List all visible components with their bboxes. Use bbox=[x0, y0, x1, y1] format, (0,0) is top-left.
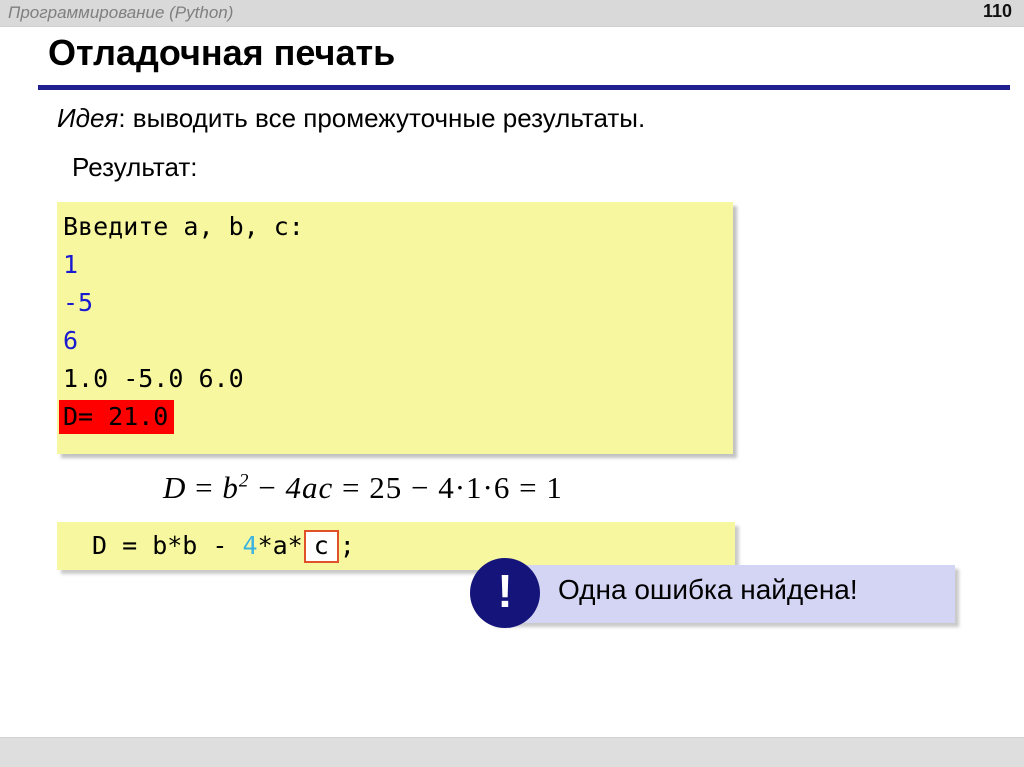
exclamation-icon: ! bbox=[470, 558, 540, 628]
formula-eq2: = bbox=[342, 470, 360, 505]
page-number: 110 bbox=[983, 1, 1012, 22]
code-prefix: D = b*b - bbox=[92, 531, 243, 560]
console-input-a: 1 bbox=[63, 250, 78, 279]
formula-minus1: − bbox=[258, 470, 276, 505]
page-title: Отладочная печать bbox=[48, 32, 395, 74]
exclamation-glyph: ! bbox=[470, 558, 540, 628]
formula-value-25: 25 bbox=[369, 470, 402, 505]
idea-label: Идея bbox=[57, 103, 118, 133]
console-input-b: -5 bbox=[63, 288, 93, 317]
console-output-box: Введите a, b, c: 1 -5 6 1.0 -5.0 6.0 D= … bbox=[57, 202, 733, 454]
idea-rest: : выводить все промежуточные результаты. bbox=[118, 103, 645, 133]
formula-result: 1 bbox=[546, 470, 563, 505]
title-underline-rule bbox=[38, 85, 1010, 90]
idea-statement: Идея: выводить все промежуточные результ… bbox=[57, 103, 645, 134]
console-highlighted-d-line: D= 21.0 bbox=[59, 400, 174, 434]
formula-eq1: = bbox=[195, 470, 213, 505]
console-output-text: Введите a, b, c: 1 -5 6 1.0 -5.0 6.0 D= … bbox=[63, 208, 304, 436]
code-suffix: ; bbox=[340, 531, 355, 560]
callout-message: Одна ошибка найдена! bbox=[558, 574, 858, 606]
code-snippet-strip: D = b*b - 4*a*c; bbox=[57, 522, 735, 570]
code-number-literal: 4 bbox=[243, 531, 258, 560]
result-label: Результат: bbox=[72, 152, 197, 183]
footer-band bbox=[0, 737, 1024, 767]
code-mid: *a* bbox=[258, 531, 303, 560]
formula-exponent: 2 bbox=[239, 471, 250, 492]
code-highlighted-token-c[interactable]: c bbox=[304, 530, 339, 563]
formula-expansion: 4·1·6 bbox=[438, 470, 510, 505]
console-input-c: 6 bbox=[63, 326, 78, 355]
console-echo-line: 1.0 -5.0 6.0 bbox=[63, 364, 244, 393]
formula-term-4ac: 4ac bbox=[285, 470, 333, 505]
formula-lhs: D bbox=[163, 470, 186, 505]
formula-b: b bbox=[222, 470, 239, 505]
course-title: Программирование (Python) bbox=[8, 3, 233, 23]
code-line: D = b*b - 4*a*c; bbox=[92, 530, 355, 563]
discriminant-formula: D = b2 − 4ac = 25 − 4·1·6 = 1 bbox=[163, 470, 563, 506]
console-prompt-line: Введите a, b, c: bbox=[63, 212, 304, 241]
formula-eq3: = bbox=[519, 470, 537, 505]
formula-minus2: − bbox=[411, 470, 429, 505]
